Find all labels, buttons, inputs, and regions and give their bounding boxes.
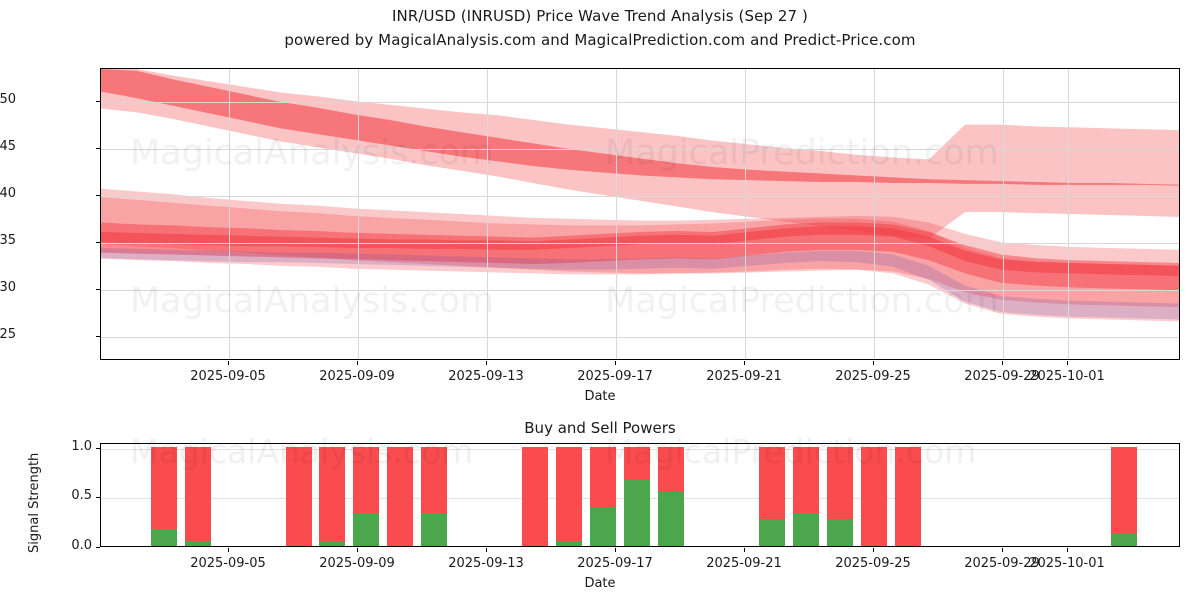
signal-bar[interactable]	[827, 447, 853, 546]
signal-bar[interactable]	[590, 447, 616, 546]
signal-bar-sell-segment	[759, 447, 785, 519]
bars-y-tick-label: 0.0	[32, 538, 92, 553]
signal-bar-sell-segment	[861, 447, 887, 546]
signal-bar-buy-segment	[759, 519, 785, 546]
price-x-tick-mark	[1067, 361, 1068, 365]
bars-x-axis-label: Date	[0, 576, 1200, 591]
price-gridline-v	[487, 69, 488, 359]
signal-bar[interactable]	[522, 447, 548, 546]
signal-bar-buy-segment	[421, 513, 447, 546]
signal-bar[interactable]	[759, 447, 785, 546]
price-gridline-h	[101, 196, 1179, 197]
price-gridline-h	[101, 149, 1179, 150]
price-x-axis-label: Date	[0, 389, 1200, 404]
signal-bar-sell-segment	[895, 447, 921, 546]
price-y-tick-mark	[96, 101, 100, 102]
price-x-tick-mark	[744, 361, 745, 365]
price-y-tick-mark	[96, 289, 100, 290]
bars-chart-plot-area	[100, 443, 1180, 547]
bars-x-tick-mark	[1067, 548, 1068, 552]
signal-bar-sell-segment	[387, 447, 413, 546]
signal-bar-buy-segment	[353, 513, 379, 546]
price-gridline-v	[616, 69, 617, 359]
price-y-tick-label: 0.01150	[0, 92, 16, 107]
signal-bar-sell-segment	[590, 447, 616, 507]
signal-bar-buy-segment	[590, 507, 616, 546]
signal-bar-sell-segment	[151, 447, 177, 529]
signal-bar-sell-segment	[827, 447, 853, 519]
signal-bar-sell-segment	[793, 447, 819, 513]
price-y-tick-mark	[96, 242, 100, 243]
price-y-tick-label: 0.01125	[0, 327, 16, 342]
price-x-tick-mark	[873, 361, 874, 365]
price-x-tick-label: 2025-09-13	[448, 369, 524, 384]
bars-x-tick-mark	[873, 548, 874, 552]
bars-x-tick-label: 2025-10-01	[1029, 556, 1105, 571]
price-gridline-h	[101, 290, 1179, 291]
price-x-tick-mark	[228, 361, 229, 365]
bars-x-tick-mark	[228, 548, 229, 552]
price-gridline-v	[229, 69, 230, 359]
price-y-tick-mark	[96, 148, 100, 149]
price-x-tick-label: 2025-09-09	[319, 369, 395, 384]
price-gridline-v	[874, 69, 875, 359]
signal-bar-sell-segment	[658, 447, 684, 492]
price-y-tick-label: 0.01130	[0, 280, 16, 295]
signal-bar-buy-segment	[827, 519, 853, 546]
price-gridline-v	[745, 69, 746, 359]
signal-bar[interactable]	[556, 447, 582, 546]
signal-bar-buy-segment	[556, 541, 582, 546]
price-y-tick-label: 0.01135	[0, 233, 16, 248]
signal-bar[interactable]	[1111, 447, 1137, 546]
price-x-tick-label: 2025-10-01	[1029, 369, 1105, 384]
page-title: INR/USD (INRUSD) Price Wave Trend Analys…	[0, 7, 1200, 25]
bars-x-tick-label: 2025-09-09	[319, 556, 395, 571]
bars-y-tick-mark	[96, 497, 100, 498]
price-gridline-v	[1003, 69, 1004, 359]
signal-bar[interactable]	[861, 447, 887, 546]
price-x-tick-mark	[1002, 361, 1003, 365]
price-x-tick-label: 2025-09-25	[835, 369, 911, 384]
signal-bar-sell-segment	[286, 447, 312, 546]
price-x-tick-label: 2025-09-21	[706, 369, 782, 384]
bars-y-tick-label: 0.5	[32, 488, 92, 503]
price-gridline-v	[1068, 69, 1069, 359]
bars-x-tick-label: 2025-09-13	[448, 556, 524, 571]
price-x-tick-mark	[357, 361, 358, 365]
signal-bar[interactable]	[421, 447, 447, 546]
price-x-tick-label: 2025-09-05	[190, 369, 266, 384]
signal-bar[interactable]	[387, 447, 413, 546]
price-y-tick-mark	[96, 336, 100, 337]
bars-x-tick-mark	[744, 548, 745, 552]
signal-bar[interactable]	[793, 447, 819, 546]
bars-y-tick-mark	[96, 448, 100, 449]
bars-x-tick-label: 2025-09-21	[706, 556, 782, 571]
bars-x-tick-mark	[615, 548, 616, 552]
signal-bar[interactable]	[895, 447, 921, 546]
signal-bar-buy-segment	[185, 541, 211, 546]
price-y-tick-label: 0.01145	[0, 139, 16, 154]
signal-bar[interactable]	[353, 447, 379, 546]
signal-bar[interactable]	[624, 447, 650, 546]
bars-x-tick-label: 2025-09-17	[577, 556, 653, 571]
price-y-tick-label: 0.01140	[0, 186, 16, 201]
signal-bar[interactable]	[185, 447, 211, 546]
price-gridline-h	[101, 102, 1179, 103]
signal-bar-sell-segment	[522, 447, 548, 546]
price-gridline-v	[358, 69, 359, 359]
signal-bar[interactable]	[151, 447, 177, 546]
signal-bar-sell-segment	[353, 447, 379, 513]
signal-bar-sell-segment	[185, 447, 211, 541]
bars-y-tick-label: 1.0	[32, 439, 92, 454]
price-gridline-h	[101, 243, 1179, 244]
signal-bar-sell-segment	[556, 447, 582, 541]
bars-x-tick-mark	[1002, 548, 1003, 552]
price-x-tick-mark	[615, 361, 616, 365]
signal-bar[interactable]	[286, 447, 312, 546]
bars-x-tick-mark	[486, 548, 487, 552]
signal-bar-buy-segment	[658, 492, 684, 546]
chart-page: INR/USD (INRUSD) Price Wave Trend Analys…	[0, 0, 1200, 600]
signal-bar[interactable]	[658, 447, 684, 546]
signal-bar-sell-segment	[1111, 447, 1137, 534]
signal-bar-sell-segment	[421, 447, 447, 513]
signal-bar-buy-segment	[151, 529, 177, 546]
signal-bar-buy-segment	[1111, 534, 1137, 546]
bars-chart-title: Buy and Sell Powers	[0, 419, 1200, 437]
signal-bar-buy-segment	[624, 480, 650, 546]
signal-bar-sell-segment	[624, 447, 650, 480]
price-x-tick-label: 2025-09-17	[577, 369, 653, 384]
price-x-tick-mark	[486, 361, 487, 365]
price-wave-bands	[101, 69, 1180, 360]
signal-bar[interactable]	[319, 447, 345, 546]
page-subtitle: powered by MagicalAnalysis.com and Magic…	[0, 31, 1200, 49]
price-y-tick-mark	[96, 195, 100, 196]
signal-bar-buy-segment	[793, 513, 819, 546]
bars-x-tick-mark	[357, 548, 358, 552]
bars-x-tick-label: 2025-09-05	[190, 556, 266, 571]
bars-x-tick-label: 2025-09-25	[835, 556, 911, 571]
signal-bar-buy-segment	[319, 542, 345, 546]
price-gridline-h	[101, 337, 1179, 338]
price-chart-plot-area	[100, 68, 1180, 360]
bars-y-tick-mark	[96, 547, 100, 548]
signal-bar-sell-segment	[319, 447, 345, 542]
